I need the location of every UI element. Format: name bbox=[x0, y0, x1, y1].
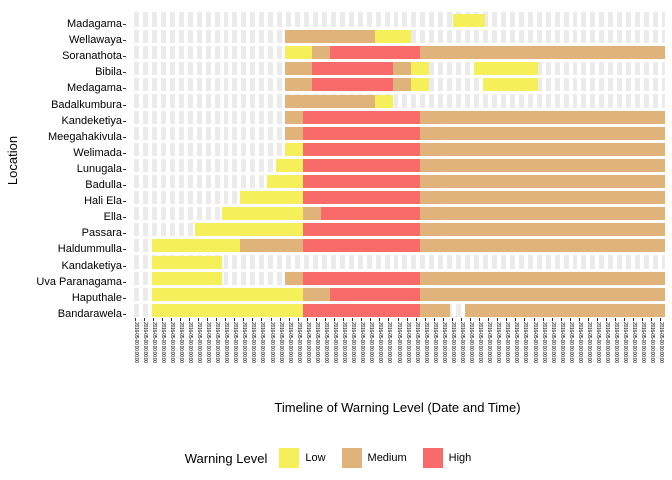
x-axis-label: 2016-05-00 00:00:00 bbox=[468, 322, 473, 363]
y-axis-label: Passara bbox=[82, 225, 122, 241]
x-axis-label: 2016-05-00 00:00:00 bbox=[577, 322, 582, 363]
x-axis-label: 2016-05-00 00:00:00 bbox=[405, 322, 410, 363]
x-axis-label: 2016-05-00 00:00:00 bbox=[278, 322, 283, 363]
x-axis-tick bbox=[261, 318, 262, 321]
heatmap-cell bbox=[285, 111, 303, 124]
x-axis-tick bbox=[660, 318, 661, 321]
x-axis-tick bbox=[388, 318, 389, 321]
x-axis-tick bbox=[325, 318, 326, 321]
x-axis-tick bbox=[298, 318, 299, 321]
x-axis-label: 2016-05-00 00:00:00 bbox=[649, 322, 654, 363]
y-axis-label: Kandeketiya bbox=[61, 113, 122, 129]
x-axis-label: 2016-05-00 00:00:00 bbox=[359, 322, 364, 363]
y-axis-label: Badulla bbox=[85, 177, 122, 193]
grid-line-vertical bbox=[139, 12, 143, 318]
x-axis-label: 2016-05-00 00:00:00 bbox=[541, 322, 546, 363]
x-axis-label: 2016-05-00 00:00:00 bbox=[205, 322, 210, 363]
heatmap-cell bbox=[393, 78, 411, 91]
y-axis-label: Lunugala bbox=[77, 161, 122, 177]
x-axis-label: 2016-05-00 00:00:00 bbox=[368, 322, 373, 363]
x-axis-labels: 2016-05-00 00:00:002016-05-00 00:00:0020… bbox=[130, 322, 665, 394]
x-axis-label: 2016-05-00 00:00:00 bbox=[459, 322, 464, 363]
x-axis-tick bbox=[307, 318, 308, 321]
x-axis-tick bbox=[171, 318, 172, 321]
heatmap-cell bbox=[465, 272, 665, 285]
heatmap-cell bbox=[303, 207, 321, 220]
x-axis-tick bbox=[234, 318, 235, 321]
x-axis-label: 2016-05-00 00:00:00 bbox=[622, 322, 627, 363]
y-axis-tick bbox=[123, 88, 126, 89]
heatmap-cell bbox=[152, 272, 222, 285]
heatmap-cell bbox=[303, 191, 330, 204]
y-axis-tick bbox=[123, 24, 126, 25]
x-axis-tick bbox=[334, 318, 335, 321]
y-axis-tick bbox=[123, 201, 126, 202]
x-axis-label: 2016-05-00 00:00:00 bbox=[214, 322, 219, 363]
heatmap-cell bbox=[303, 272, 330, 285]
y-axis-label: Haldummulla bbox=[58, 241, 122, 257]
heatmap-panel bbox=[130, 12, 665, 318]
heatmap-cell bbox=[375, 95, 393, 108]
heatmap-cell bbox=[285, 95, 312, 108]
heatmap-cell bbox=[348, 78, 393, 91]
x-axis-tick bbox=[271, 318, 272, 321]
x-axis-tick bbox=[506, 318, 507, 321]
heatmap-cell bbox=[267, 175, 303, 188]
chart-root: Location MadagamaWellawayaSoranathotaBib… bbox=[0, 0, 672, 480]
x-axis-tick bbox=[488, 318, 489, 321]
x-axis-tick bbox=[198, 318, 199, 321]
x-axis-label: 2016-05-00 00:00:00 bbox=[550, 322, 555, 363]
heatmap-cell bbox=[465, 191, 665, 204]
heatmap-cell bbox=[330, 143, 420, 156]
y-axis-label: Medagama bbox=[67, 80, 122, 96]
y-axis-label: Hali Ela bbox=[84, 193, 122, 209]
x-axis-tick bbox=[588, 318, 589, 321]
heatmap-cell bbox=[453, 14, 485, 27]
x-axis-tick bbox=[225, 318, 226, 321]
heatmap-cell bbox=[195, 223, 303, 236]
x-axis-tick bbox=[180, 318, 181, 321]
x-axis-tick bbox=[162, 318, 163, 321]
x-axis-tick bbox=[515, 318, 516, 321]
x-axis-label: 2016-05-00 00:00:00 bbox=[269, 322, 274, 363]
x-axis-tick bbox=[379, 318, 380, 321]
y-axis-tick bbox=[123, 217, 126, 218]
heatmap-cell bbox=[240, 191, 303, 204]
x-axis-tick bbox=[479, 318, 480, 321]
y-axis-label: Soranathota bbox=[62, 48, 122, 64]
heatmap-cell bbox=[303, 239, 330, 252]
y-axis-tick bbox=[123, 266, 126, 267]
heatmap-cell bbox=[348, 62, 393, 75]
y-axis-tick bbox=[123, 249, 126, 250]
x-axis-label: 2016-05-00 00:00:00 bbox=[196, 322, 201, 363]
y-axis-tick bbox=[123, 137, 126, 138]
x-axis-tick bbox=[606, 318, 607, 321]
heatmap-cell bbox=[330, 127, 420, 140]
heatmap-cell bbox=[411, 78, 429, 91]
legend-swatch bbox=[423, 448, 443, 468]
x-axis-label: 2016-05-00 00:00:00 bbox=[396, 322, 401, 363]
heatmap-cell bbox=[339, 95, 375, 108]
x-axis-label: 2016-05-00 00:00:00 bbox=[432, 322, 437, 363]
x-axis-tick bbox=[524, 318, 525, 321]
x-axis-tick bbox=[552, 318, 553, 321]
y-axis-tick bbox=[123, 40, 126, 41]
x-axis-label: 2016-05-00 00:00:00 bbox=[287, 322, 292, 363]
legend-key bbox=[279, 448, 299, 468]
x-axis-label: 2016-05-00 00:00:00 bbox=[486, 322, 491, 363]
x-axis-label: 2016-05-00 00:00:00 bbox=[133, 322, 138, 363]
legend-key bbox=[342, 448, 362, 468]
heatmap-cell bbox=[152, 304, 303, 317]
heatmap-cell bbox=[420, 143, 465, 156]
heatmap-cell bbox=[465, 207, 665, 220]
y-axis-label: Uva Paranagama bbox=[36, 274, 122, 290]
legend-title: Warning Level bbox=[185, 451, 268, 466]
heatmap-cell bbox=[152, 288, 303, 301]
x-axis-tick bbox=[135, 318, 136, 321]
grid-line-horizontal bbox=[130, 252, 665, 255]
heatmap-cell bbox=[465, 304, 665, 317]
x-axis-tick bbox=[597, 318, 598, 321]
heatmap-cell bbox=[420, 159, 465, 172]
legend-label: Medium bbox=[368, 452, 407, 464]
heatmap-cell bbox=[285, 127, 303, 140]
x-axis-label: 2016-05-00 00:00:00 bbox=[296, 322, 301, 363]
grid-line-vertical bbox=[255, 12, 259, 318]
heatmap-cell bbox=[303, 304, 330, 317]
y-axis-label: Kandaketiya bbox=[61, 258, 122, 274]
x-axis-tick bbox=[189, 318, 190, 321]
x-axis-tick bbox=[633, 318, 634, 321]
heatmap-cell bbox=[465, 159, 665, 172]
y-axis-title-text: Location bbox=[6, 135, 21, 184]
y-axis-label: Ella bbox=[104, 209, 122, 225]
heatmap-cell bbox=[330, 288, 420, 301]
x-axis-tick bbox=[642, 318, 643, 321]
heatmap-cell bbox=[285, 143, 303, 156]
x-axis-tick bbox=[144, 318, 145, 321]
grid-line-vertical bbox=[237, 12, 241, 318]
x-axis-label: 2016-05-00 00:00:00 bbox=[341, 322, 346, 363]
heatmap-cell bbox=[348, 46, 420, 59]
grid-line-vertical bbox=[130, 12, 134, 318]
legend: Warning Level LowMediumHigh bbox=[0, 444, 672, 472]
x-axis-tick bbox=[534, 318, 535, 321]
x-axis-label: 2016-05-00 00:00:00 bbox=[532, 322, 537, 363]
heatmap-cell bbox=[285, 78, 312, 91]
x-axis-label: 2016-05-00 00:00:00 bbox=[314, 322, 319, 363]
x-axis-tick bbox=[561, 318, 562, 321]
heatmap-cell bbox=[420, 288, 465, 301]
x-axis-label: 2016-05-00 00:00:00 bbox=[232, 322, 237, 363]
x-axis-tick bbox=[207, 318, 208, 321]
heatmap-cell bbox=[420, 304, 450, 317]
x-axis-label: 2016-05-00 00:00:00 bbox=[332, 322, 337, 363]
x-axis-tick bbox=[470, 318, 471, 321]
heatmap-cell bbox=[330, 159, 420, 172]
heatmap-cell bbox=[303, 288, 330, 301]
x-axis-label: 2016-05-00 00:00:00 bbox=[423, 322, 428, 363]
heatmap-cell bbox=[330, 304, 420, 317]
y-axis-tick bbox=[123, 56, 126, 57]
heatmap-cell bbox=[330, 223, 420, 236]
y-axis-tick bbox=[123, 314, 126, 315]
heatmap-cell bbox=[420, 127, 465, 140]
heatmap-cell bbox=[330, 175, 420, 188]
heatmap-cell bbox=[375, 30, 411, 43]
y-axis-title: Location bbox=[2, 0, 24, 320]
x-axis-label: 2016-05-00 00:00:00 bbox=[414, 322, 419, 363]
x-axis-tick bbox=[570, 318, 571, 321]
x-axis-tick bbox=[579, 318, 580, 321]
x-axis-label: 2016-05-00 00:00:00 bbox=[187, 322, 192, 363]
y-axis-label: Meegahakivula bbox=[48, 129, 122, 145]
heatmap-cell bbox=[330, 46, 348, 59]
x-axis-label: 2016-05-00 00:00:00 bbox=[613, 322, 618, 363]
x-axis-label: 2016-05-00 00:00:00 bbox=[568, 322, 573, 363]
x-axis-tick bbox=[252, 318, 253, 321]
heatmap-cell bbox=[465, 127, 665, 140]
legend-label: Low bbox=[305, 452, 325, 464]
x-axis-label: 2016-05-00 00:00:00 bbox=[305, 322, 310, 363]
heatmap-cell bbox=[240, 239, 303, 252]
legend-swatch bbox=[342, 448, 362, 468]
heatmap-cell bbox=[330, 191, 420, 204]
x-axis-label: 2016-05-00 00:00:00 bbox=[323, 322, 328, 363]
heatmap-cell bbox=[222, 207, 303, 220]
x-axis-tick bbox=[280, 318, 281, 321]
heatmap-cell bbox=[152, 256, 222, 269]
heatmap-cell bbox=[303, 127, 330, 140]
x-axis-label: 2016-05-00 00:00:00 bbox=[142, 322, 147, 363]
heatmap-cell bbox=[285, 30, 312, 43]
y-axis-tick bbox=[123, 121, 126, 122]
x-axis-tick bbox=[443, 318, 444, 321]
x-axis-tick bbox=[651, 318, 652, 321]
x-axis-label: 2016-05-00 00:00:00 bbox=[259, 322, 264, 363]
y-axis-labels: MadagamaWellawayaSoranathotaBibilaMedaga… bbox=[24, 14, 122, 316]
heatmap-cell bbox=[330, 272, 420, 285]
heatmap-cell bbox=[465, 46, 665, 59]
legend-item[interactable]: High bbox=[423, 448, 472, 468]
x-axis-label: 2016-05-00 00:00:00 bbox=[441, 322, 446, 363]
heatmap-cell bbox=[474, 62, 538, 75]
x-axis-label: 2016-05-00 00:00:00 bbox=[559, 322, 564, 363]
x-axis-tick bbox=[497, 318, 498, 321]
y-axis-label: Bandarawela bbox=[58, 306, 122, 322]
heatmap-cell bbox=[330, 207, 420, 220]
legend-key bbox=[423, 448, 443, 468]
legend-items: LowMediumHigh bbox=[279, 448, 487, 468]
heatmap-cell bbox=[312, 62, 348, 75]
heatmap-cell bbox=[312, 95, 339, 108]
x-axis-label: 2016-05-00 00:00:00 bbox=[595, 322, 600, 363]
x-axis-label: 2016-05-00 00:00:00 bbox=[477, 322, 482, 363]
legend-swatch bbox=[279, 448, 299, 468]
x-axis-label: 2016-05-00 00:00:00 bbox=[631, 322, 636, 363]
x-axis-label: 2016-05-00 00:00:00 bbox=[495, 322, 500, 363]
x-axis-tick bbox=[407, 318, 408, 321]
heatmap-cell bbox=[303, 159, 330, 172]
y-axis-tick bbox=[123, 185, 126, 186]
heatmap-cell bbox=[303, 111, 330, 124]
heatmap-cell bbox=[420, 272, 465, 285]
heatmap-cell bbox=[411, 62, 429, 75]
heatmap-cell bbox=[276, 159, 303, 172]
x-axis-label: 2016-05-00 00:00:00 bbox=[386, 322, 391, 363]
heatmap-cell bbox=[152, 239, 240, 252]
y-axis-label: Welimada bbox=[73, 145, 122, 161]
y-axis-tick bbox=[123, 298, 126, 299]
y-axis-tick bbox=[123, 282, 126, 283]
grid-line-vertical bbox=[228, 12, 232, 318]
heatmap-cell bbox=[465, 223, 665, 236]
heatmap-cell bbox=[420, 223, 465, 236]
y-axis-tick bbox=[123, 105, 126, 106]
x-axis-tick bbox=[461, 318, 462, 321]
x-axis-label: 2016-05-00 00:00:00 bbox=[513, 322, 518, 363]
x-axis-tick bbox=[416, 318, 417, 321]
x-axis-label: 2016-05-00 00:00:00 bbox=[586, 322, 591, 363]
x-axis-tick bbox=[543, 318, 544, 321]
x-axis-tick bbox=[425, 318, 426, 321]
x-axis-tick bbox=[216, 318, 217, 321]
heatmap-cell bbox=[303, 175, 330, 188]
heatmap-cell bbox=[330, 239, 420, 252]
heatmap-cell bbox=[303, 143, 330, 156]
heatmap-cell bbox=[420, 46, 465, 59]
grid-line-vertical bbox=[246, 12, 250, 318]
x-axis-tick bbox=[352, 318, 353, 321]
x-axis-tick bbox=[361, 318, 362, 321]
heatmap-cell bbox=[321, 207, 330, 220]
heatmap-cell bbox=[420, 111, 465, 124]
y-axis-label: Haputhale bbox=[72, 290, 122, 306]
y-axis-label: Bibila bbox=[95, 64, 122, 80]
x-axis-label: 2016-05-00 00:00:00 bbox=[377, 322, 382, 363]
y-axis-tick bbox=[123, 153, 126, 154]
x-axis-tick bbox=[289, 318, 290, 321]
x-axis-tick bbox=[624, 318, 625, 321]
x-axis-label: 2016-05-00 00:00:00 bbox=[350, 322, 355, 363]
heatmap-cell bbox=[312, 30, 375, 43]
grid-line-vertical bbox=[264, 12, 268, 318]
x-axis-tick bbox=[452, 318, 453, 321]
x-axis-label: 2016-05-00 00:00:00 bbox=[640, 322, 645, 363]
x-axis-tick bbox=[243, 318, 244, 321]
x-axis-title: Timeline of Warning Level (Date and Time… bbox=[130, 400, 665, 415]
heatmap-cell bbox=[285, 62, 312, 75]
heatmap-cell bbox=[420, 191, 465, 204]
x-axis-label: 2016-05-00 00:00:00 bbox=[522, 322, 527, 363]
y-axis-tick bbox=[123, 169, 126, 170]
y-axis-label: Wellawaya bbox=[69, 32, 122, 48]
x-axis-tick bbox=[398, 318, 399, 321]
grid-line-horizontal bbox=[130, 91, 665, 94]
heatmap-cell bbox=[483, 78, 538, 91]
x-axis-label: 2016-05-00 00:00:00 bbox=[504, 322, 509, 363]
heatmap-cell bbox=[312, 46, 330, 59]
heatmap-cell bbox=[465, 111, 665, 124]
x-axis-label: 2016-05-00 00:00:00 bbox=[160, 322, 165, 363]
x-axis-tick bbox=[153, 318, 154, 321]
heatmap-cell bbox=[465, 239, 665, 252]
heatmap-cell bbox=[420, 239, 465, 252]
x-axis-tick bbox=[316, 318, 317, 321]
x-axis-label: 2016-05-00 00:00:00 bbox=[178, 322, 183, 363]
heatmap-cell bbox=[465, 143, 665, 156]
x-axis-label: 2016-05-00 00:00:00 bbox=[604, 322, 609, 363]
x-axis-label: 2016-05-00 00:00:00 bbox=[151, 322, 156, 363]
y-axis-label: Badalkumbura bbox=[51, 97, 122, 113]
x-axis-label: 2016-05-00 00:00:00 bbox=[250, 322, 255, 363]
heatmap-cell bbox=[420, 175, 465, 188]
x-axis-label: 2016-05-00 00:00:00 bbox=[169, 322, 174, 363]
y-axis-label: Madagama bbox=[67, 16, 122, 32]
heatmap-cell bbox=[285, 46, 312, 59]
x-axis-label: 2016-05-00 00:00:00 bbox=[223, 322, 228, 363]
y-axis-tick bbox=[123, 72, 126, 73]
heatmap-cell bbox=[420, 207, 465, 220]
x-axis-tick bbox=[615, 318, 616, 321]
heatmap-cell bbox=[465, 288, 665, 301]
legend-item[interactable]: Medium bbox=[342, 448, 407, 468]
legend-item[interactable]: Low bbox=[279, 448, 325, 468]
x-axis-label: 2016-05-00 00:00:00 bbox=[450, 322, 455, 363]
heatmap-cell bbox=[330, 111, 420, 124]
heatmap-cell bbox=[285, 272, 303, 285]
y-axis-tick bbox=[123, 233, 126, 234]
x-axis-label: 2016-05-00 00:00:00 bbox=[658, 322, 663, 363]
heatmap-cell bbox=[465, 175, 665, 188]
heatmap-cell bbox=[312, 78, 348, 91]
x-axis-label: 2016-05-00 00:00:00 bbox=[241, 322, 246, 363]
x-axis-tick bbox=[343, 318, 344, 321]
heatmap-cell bbox=[303, 223, 330, 236]
legend-label: High bbox=[449, 452, 472, 464]
heatmap-cell bbox=[393, 62, 411, 75]
x-axis-tick bbox=[434, 318, 435, 321]
x-axis-tick bbox=[370, 318, 371, 321]
